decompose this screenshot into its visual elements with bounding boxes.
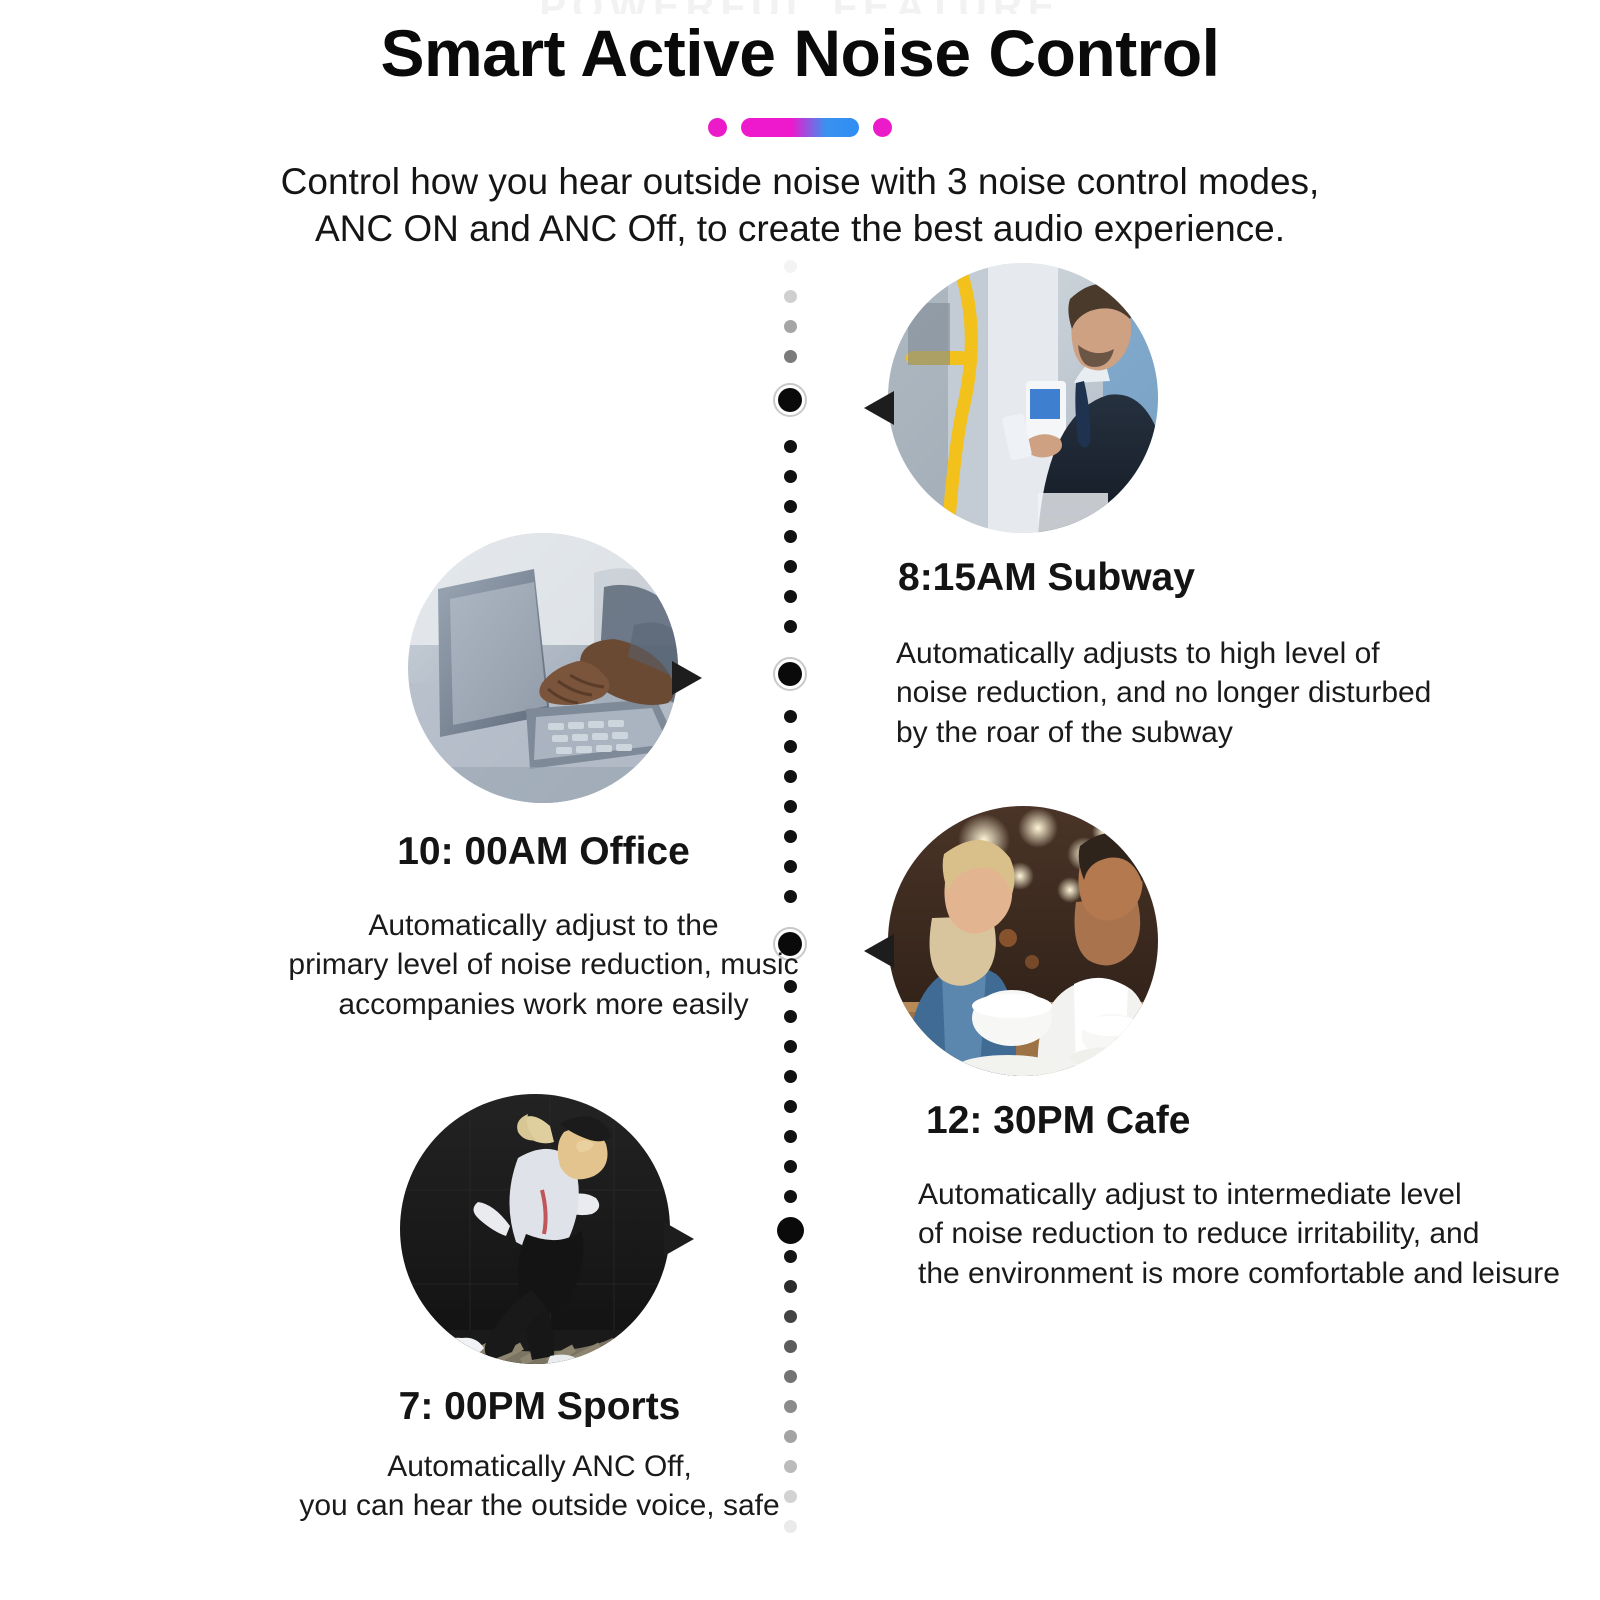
timeline-node-subway[interactable] [773,383,807,417]
story-subway-body: Automatically adjusts to high level of n… [896,634,1431,753]
story-office-title: 10: 00AM Office [271,829,816,876]
story-subway-body-line-1: Automatically adjusts to high level of [896,634,1431,674]
story-subway-body-line-3: by the roar of the subway [896,713,1431,753]
story-cafe: 12: 30PM Cafe Automatically adjust to in… [888,806,1560,1294]
page-subtitle: Control how you hear outside noise with … [0,158,1600,253]
story-sports-body-line-1: Automatically ANC Off, [267,1447,812,1487]
subtitle-line-1: Control how you hear outside noise with … [0,158,1600,205]
page-header: POWERFUL FEATURE Smart Active Noise Cont… [0,0,1600,86]
subway-photo [888,263,1158,533]
story-cafe-body: Automatically adjust to intermediate lev… [918,1175,1560,1294]
story-subway-photo-bubble [888,263,1158,533]
story-office-photo-bubble [408,533,678,803]
timeline-dot [784,1070,797,1083]
story-cafe-body-line-2: of noise reduction to reduce irritabilit… [918,1214,1560,1254]
story-office-body-line-2: primary level of noise reduction, music [271,945,816,985]
story-sports-body-line-2: you can hear the outside voice, safe [267,1486,812,1526]
story-office-body-line-1: Automatically adjust to the [271,906,816,946]
eyebrow-text: POWERFUL FEATURE [0,0,1600,14]
timeline-dot [784,260,797,273]
subtitle-line-2: ANC ON and ANC Off, to create the best a… [0,205,1600,252]
office-bubble-tail [672,661,702,695]
accent-divider [0,118,1600,137]
story-subway-title: 8:15AM Subway [898,555,1431,602]
story-sports-body: Automatically ANC Off, you can hear the … [267,1447,812,1526]
story-sports-title: 7: 00PM Sports [267,1384,812,1431]
office-photo [408,533,678,803]
timeline-dot [784,1040,797,1053]
story-office-body: Automatically adjust to the primary leve… [271,906,816,1025]
accent-dot-left [708,118,727,137]
sports-photo [400,1094,670,1364]
accent-bar-gradient [741,118,859,137]
timeline-dot [784,320,797,333]
subway-bubble-tail [864,391,894,425]
timeline-dot [784,290,797,303]
story-cafe-photo-bubble [888,806,1158,1076]
story-cafe-title: 12: 30PM Cafe [926,1098,1560,1145]
timeline-dot [784,440,797,453]
story-cafe-body-line-1: Automatically adjust to intermediate lev… [918,1175,1560,1215]
story-sports-photo-bubble [400,1094,670,1364]
accent-dot-right [873,118,892,137]
story-sports: 7: 00PM Sports Automatically ANC Off, yo… [400,1094,812,1526]
story-subway: 8:15AM Subway Automatically adjusts to h… [888,263,1431,753]
story-office-body-line-3: accompanies work more easily [271,985,816,1025]
story-subway-body-line-2: noise reduction, and no longer disturbed [896,673,1431,713]
story-cafe-body-line-3: the environment is more comfortable and … [918,1254,1560,1294]
cafe-photo [888,806,1158,1076]
timeline-dot [784,350,797,363]
sports-bubble-tail [664,1222,694,1256]
cafe-bubble-tail [864,934,894,968]
timeline-dot [784,500,797,513]
timeline-dot [784,470,797,483]
page-title: Smart Active Noise Control [0,20,1600,86]
